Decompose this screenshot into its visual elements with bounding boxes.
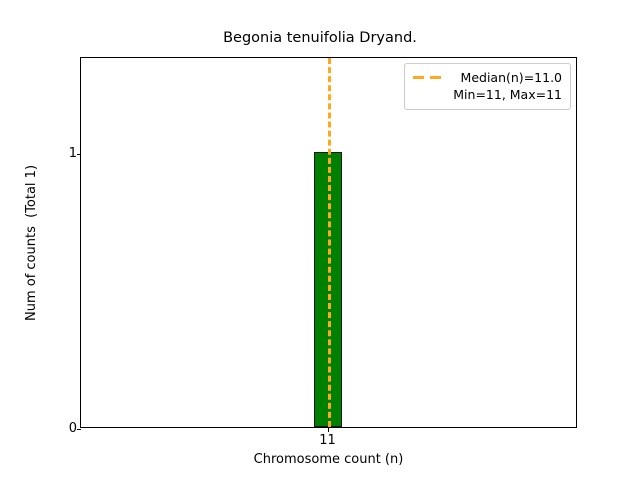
x-tick-mark-11 [328, 427, 329, 432]
legend: Median(n)=11.0 Min=11, Max=11 [404, 63, 571, 110]
x-tick-label-11: 11 [319, 433, 336, 449]
y-tick-mark-0 [77, 429, 82, 430]
legend-entry-median: Median(n)=11.0 [453, 70, 562, 87]
y-tick-label-1: 1 [69, 145, 77, 163]
y-tick-label-0: 0 [69, 420, 77, 438]
y-tick-mark-1 [77, 154, 82, 155]
y-axis-label-text: Num of counts (Total 1) [24, 164, 40, 320]
legend-dashed-line-icon [413, 70, 444, 86]
plot-axes: 1 0 11 Median(n)=11.0 Min=11, Max=11 [80, 57, 577, 428]
plot-area [81, 58, 576, 427]
legend-entry-minmax: Min=11, Max=11 [453, 87, 562, 104]
legend-text: Median(n)=11.0 Min=11, Max=11 [453, 70, 562, 103]
chart-title: Begonia tenuifolia Dryand. [0, 29, 640, 47]
x-axis-label: Chromosome count (n) [80, 452, 577, 468]
median-line [328, 58, 331, 427]
chart-figure: Begonia tenuifolia Dryand. Num of counts… [0, 0, 640, 480]
y-axis-label: Num of counts (Total 1) [22, 57, 42, 428]
